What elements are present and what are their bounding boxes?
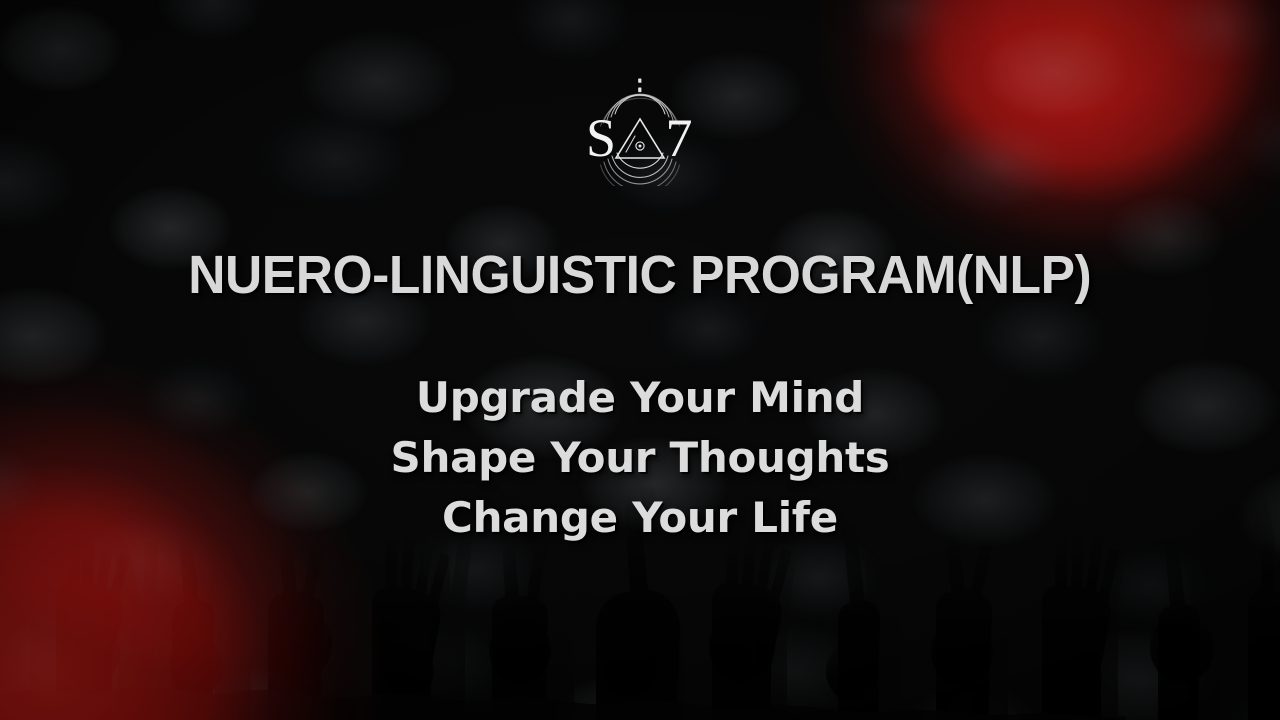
- tagline-line-3: Change Your Life: [442, 492, 838, 545]
- banner-content: S 7 NUERO-LINGUISTIC PROGRAM(NLP) Upgrad…: [0, 0, 1280, 720]
- logo-dot-lower: [638, 88, 641, 93]
- logo-dot-upper: [638, 79, 641, 83]
- logo-eye-pupil: [639, 145, 642, 148]
- sa7-logo: S 7: [579, 76, 701, 186]
- logo-letter-7: 7: [666, 108, 693, 168]
- tagline-line-2: Shape Your Thoughts: [391, 432, 890, 485]
- tagline-group: Upgrade Your Mind Shape Your Thoughts Ch…: [391, 372, 890, 545]
- tagline-line-1: Upgrade Your Mind: [416, 372, 864, 425]
- logo-triangle: [616, 119, 664, 158]
- logo-letter-s: S: [586, 108, 616, 168]
- page-title: NUERO-LINGUISTIC PROGRAM(NLP): [189, 248, 1092, 302]
- promo-banner: S 7 NUERO-LINGUISTIC PROGRAM(NLP) Upgrad…: [0, 0, 1280, 720]
